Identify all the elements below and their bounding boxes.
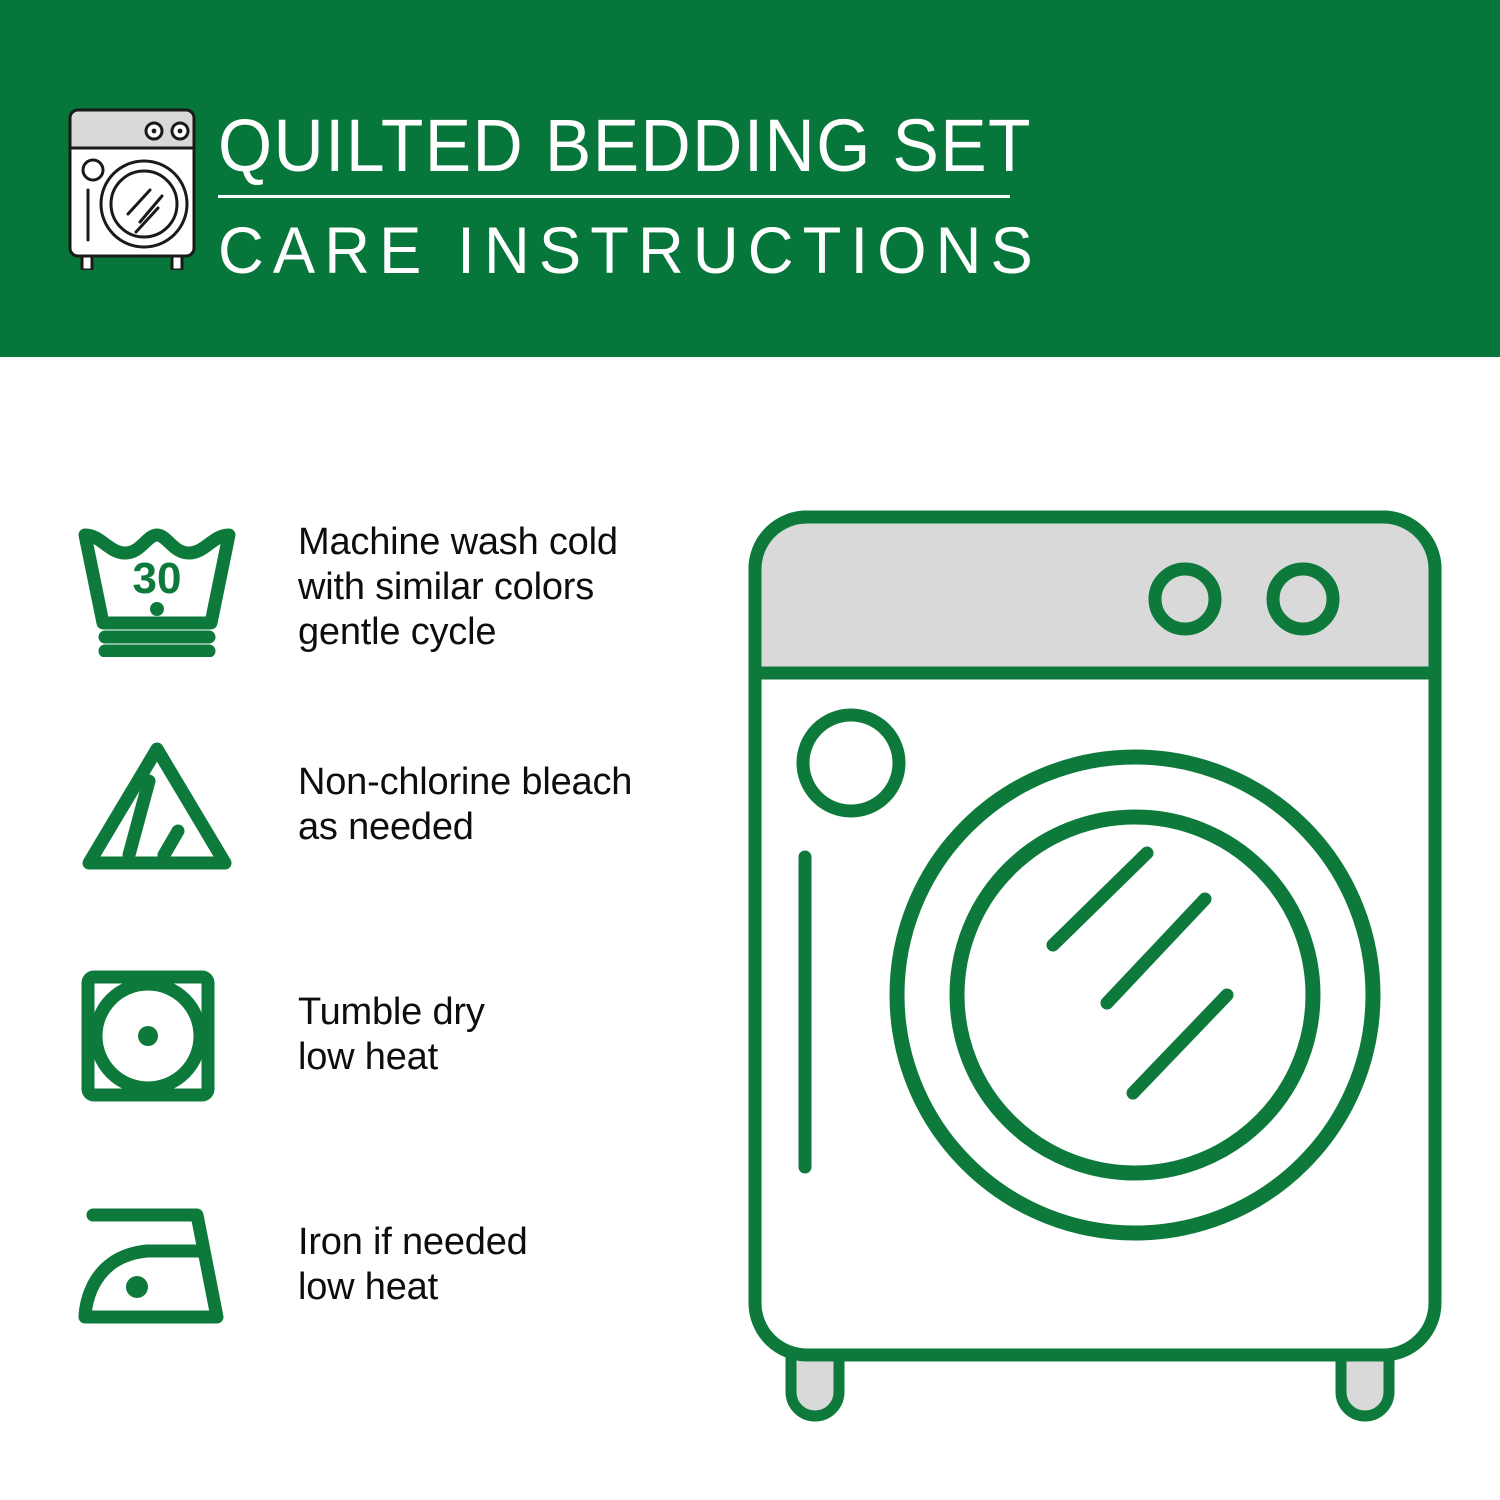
wash-temperature-label: 30 bbox=[133, 554, 182, 603]
care-line: gentle cycle bbox=[298, 610, 618, 655]
header-text-group: QUILTED BEDDING SET CARE INSTRUCTIONS bbox=[218, 104, 1038, 288]
care-row-bleach: Non-chlorine bleach as needed bbox=[75, 735, 715, 875]
care-line: Machine wash cold bbox=[298, 520, 618, 565]
care-row-iron: Iron if needed low heat bbox=[75, 1195, 715, 1335]
care-row-wash: 30 Machine wash cold with similar colors… bbox=[75, 517, 715, 657]
wash-tub-30-icon: 30 bbox=[75, 517, 240, 657]
machine-dial bbox=[803, 715, 899, 811]
care-label-iron: Iron if needed low heat bbox=[298, 1220, 528, 1310]
care-line: Iron if needed bbox=[298, 1220, 528, 1265]
machine-knob-right bbox=[1273, 569, 1333, 629]
care-line: with similar colors bbox=[298, 565, 618, 610]
care-instructions-page: QUILTED BEDDING SET CARE INSTRUCTIONS 30 bbox=[0, 0, 1500, 1500]
title-divider bbox=[218, 195, 1010, 198]
care-line: low heat bbox=[298, 1035, 485, 1080]
care-line: low heat bbox=[298, 1265, 528, 1310]
bleach-triangle-icon bbox=[75, 735, 240, 875]
care-line: as needed bbox=[298, 805, 632, 850]
care-label-bleach: Non-chlorine bleach as needed bbox=[298, 760, 632, 850]
washing-machine-icon bbox=[62, 104, 202, 270]
page-subtitle: CARE INSTRUCTIONS bbox=[218, 212, 1005, 288]
washing-machine-illustration bbox=[735, 495, 1455, 1425]
iron-icon bbox=[75, 1195, 240, 1335]
page-title: QUILTED BEDDING SET bbox=[218, 104, 989, 188]
care-instructions-list: 30 Machine wash cold with similar colors… bbox=[0, 357, 730, 1500]
care-label-tumble-dry: Tumble dry low heat bbox=[298, 990, 485, 1080]
care-label-wash: Machine wash cold with similar colors ge… bbox=[298, 520, 618, 655]
tumble-dry-icon bbox=[75, 965, 240, 1105]
care-line: Non-chlorine bleach bbox=[298, 760, 632, 805]
header-banner: QUILTED BEDDING SET CARE INSTRUCTIONS bbox=[0, 0, 1500, 357]
care-line: Tumble dry bbox=[298, 990, 485, 1035]
machine-knob-left bbox=[1155, 569, 1215, 629]
care-row-tumble-dry: Tumble dry low heat bbox=[75, 965, 715, 1105]
